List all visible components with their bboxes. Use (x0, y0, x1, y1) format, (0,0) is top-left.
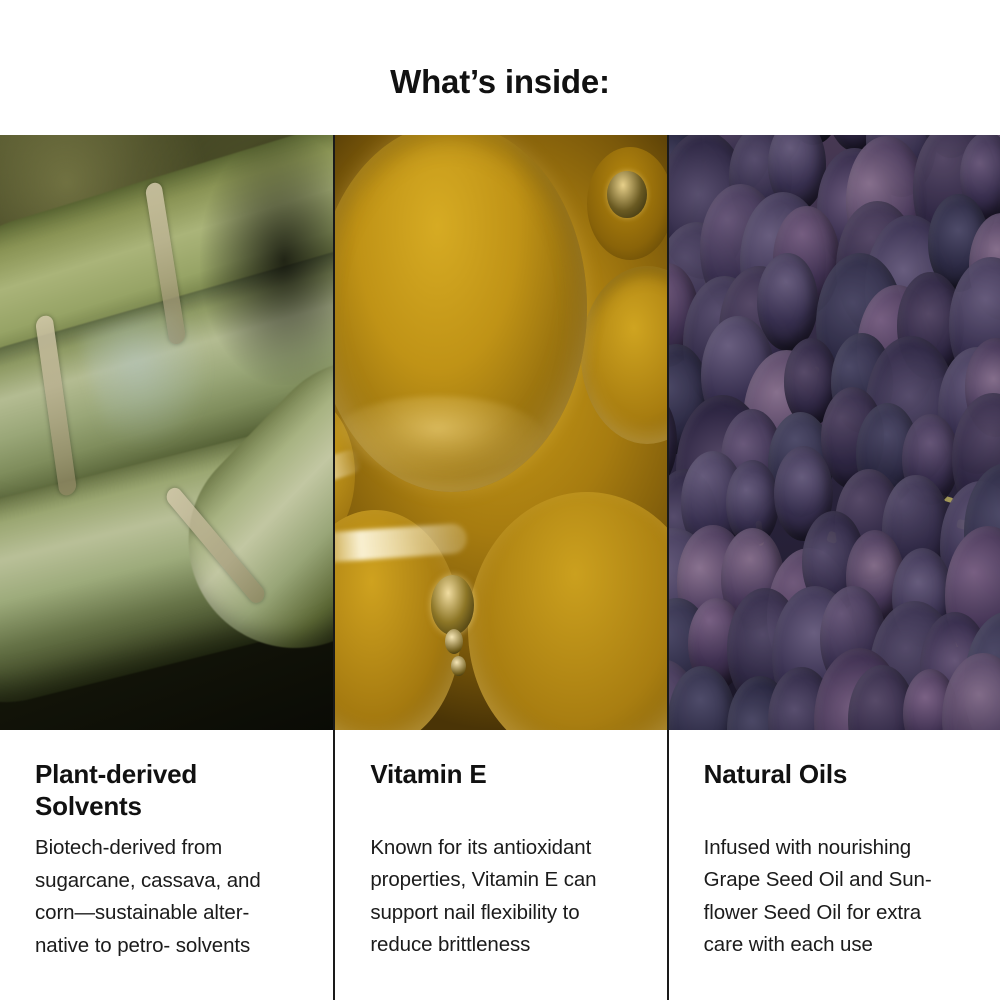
ingredient-card-natural-oils: Natural Oils Infused with nourishing Gra… (667, 135, 1000, 1000)
grapes-photo (669, 135, 1000, 730)
ingredient-card-plant-derived-solvents: Plant-derived Solvents Biotech-derived f… (0, 135, 333, 1000)
card-title: Natural Oils (704, 758, 966, 822)
card-body: Infused with nourishing Grape Seed Oil a… (704, 832, 966, 962)
ingredients-infographic: What’s inside: Plant-deri (0, 0, 1000, 1000)
card-body: Known for its antioxidant properties, Vi… (370, 832, 632, 962)
card-body: Biotech-derived from sugarcane, cassava,… (35, 832, 299, 962)
ingredient-card-vitamin-e: Vitamin E Known for its antioxidant prop… (333, 135, 666, 1000)
page-header: What’s inside: (0, 0, 1000, 135)
oil-bubbles-photo (335, 135, 666, 730)
card-text-natural-oils: Natural Oils Infused with nourishing Gra… (669, 730, 1000, 1000)
card-title: Vitamin E (370, 758, 632, 822)
card-text-plant-derived-solvents: Plant-derived Solvents Biotech-derived f… (0, 730, 333, 1000)
card-title: Plant-derived Solvents (35, 758, 299, 822)
ingredient-columns: Plant-derived Solvents Biotech-derived f… (0, 135, 1000, 1000)
sugarcane-stalks-photo (0, 135, 333, 730)
page-title: What’s inside: (390, 37, 610, 98)
card-text-vitamin-e: Vitamin E Known for its antioxidant prop… (335, 730, 666, 1000)
